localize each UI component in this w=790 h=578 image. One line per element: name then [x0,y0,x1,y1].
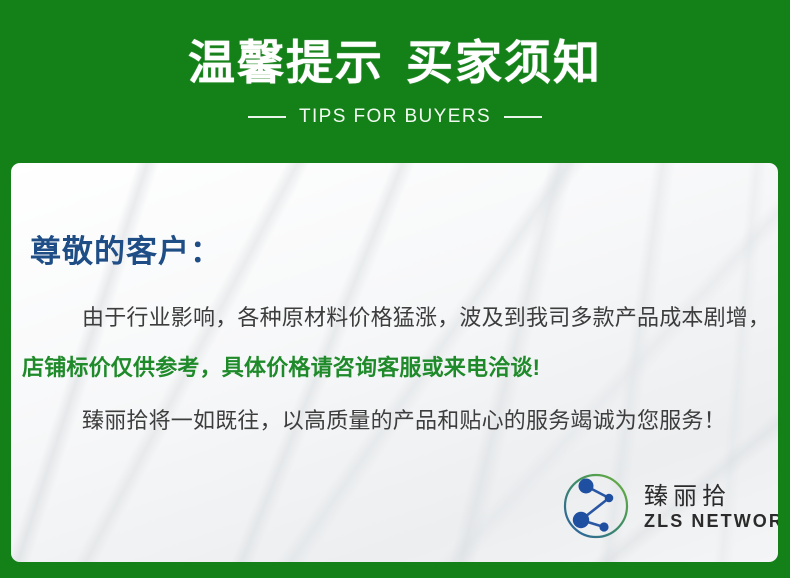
brand-text: 臻丽拾 ZLS NETWORK [644,481,778,532]
page-title: 温馨提示买家须知 [0,34,790,92]
notice-line-3: 臻丽拾将一如既往，以高质量的产品和贴心的服务竭诚为您服务！ [38,406,726,436]
content-panel: 尊敬的客户： 由于行业影响，各种原材料价格猛涨，波及到我司多款产品成本剧增， 店… [11,163,778,562]
dash-left-icon [248,116,286,118]
greeting-text: 尊敬的客户： [30,226,222,271]
brand-name-en: ZLS NETWORK [644,510,778,532]
title-right: 买家须知 [406,36,602,89]
network-ring-icon [559,469,633,543]
notice-line-1: 由于行业影响，各种原材料价格猛涨，波及到我司多款产品成本剧增， [38,303,770,333]
subtitle: TIPS FOR BUYERS [299,106,491,128]
title-left: 温馨提示 [188,36,384,89]
promo-banner: 温馨提示买家须知 TIPS FOR BUYERS 尊敬的客户： 由于行业影响，各… [0,0,790,578]
brand-logo: 臻丽拾 ZLS NETWORK [559,466,764,546]
header-section: 温馨提示买家须知 TIPS FOR BUYERS [0,0,790,163]
subtitle-row: TIPS FOR BUYERS [0,106,790,128]
notice-line-2-highlight: 店铺标价仅供参考，具体价格请咨询客服或来电洽谈! [22,353,540,383]
brand-name-cn: 臻丽拾 [644,483,778,510]
dash-right-icon [504,116,542,118]
